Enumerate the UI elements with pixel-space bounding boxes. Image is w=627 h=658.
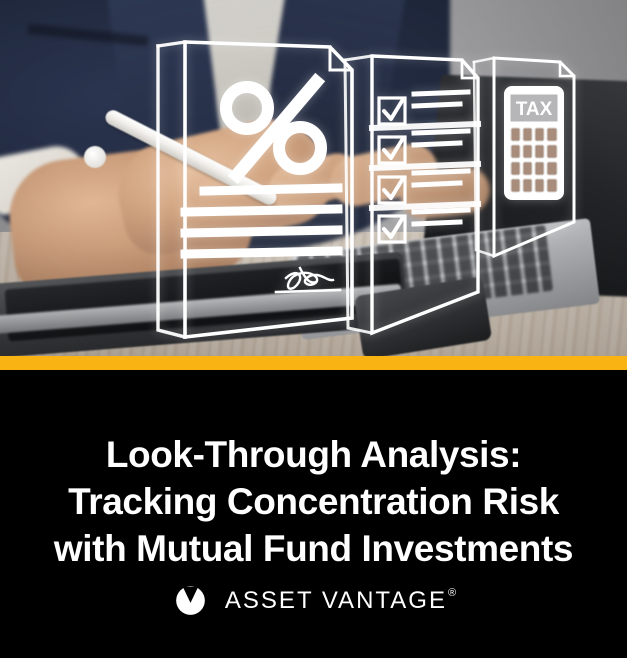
title-line-2: Tracking Concentration Risk xyxy=(14,478,613,525)
asset-vantage-circle-v-mark xyxy=(172,582,209,619)
brand-wordmark: ASSET VANTAGE® xyxy=(225,589,455,613)
accent-divider xyxy=(0,356,627,370)
page-title: Look-Through Analysis: Tracking Concentr… xyxy=(0,431,627,572)
content-panel: Look-Through Analysis: Tracking Concentr… xyxy=(0,370,627,658)
title-line-3: with Mutual Fund Investments xyxy=(14,525,613,572)
registered-trademark-icon: ® xyxy=(448,587,456,599)
hero-photo: TAX xyxy=(0,0,627,356)
title-line-1: Look-Through Analysis: xyxy=(14,431,613,478)
brand-logo: ASSET VANTAGE® xyxy=(0,582,627,619)
stylus-tip xyxy=(84,146,106,168)
promo-card: TAX xyxy=(0,0,627,658)
brand-name-text: ASSET VANTAGE xyxy=(225,587,447,614)
